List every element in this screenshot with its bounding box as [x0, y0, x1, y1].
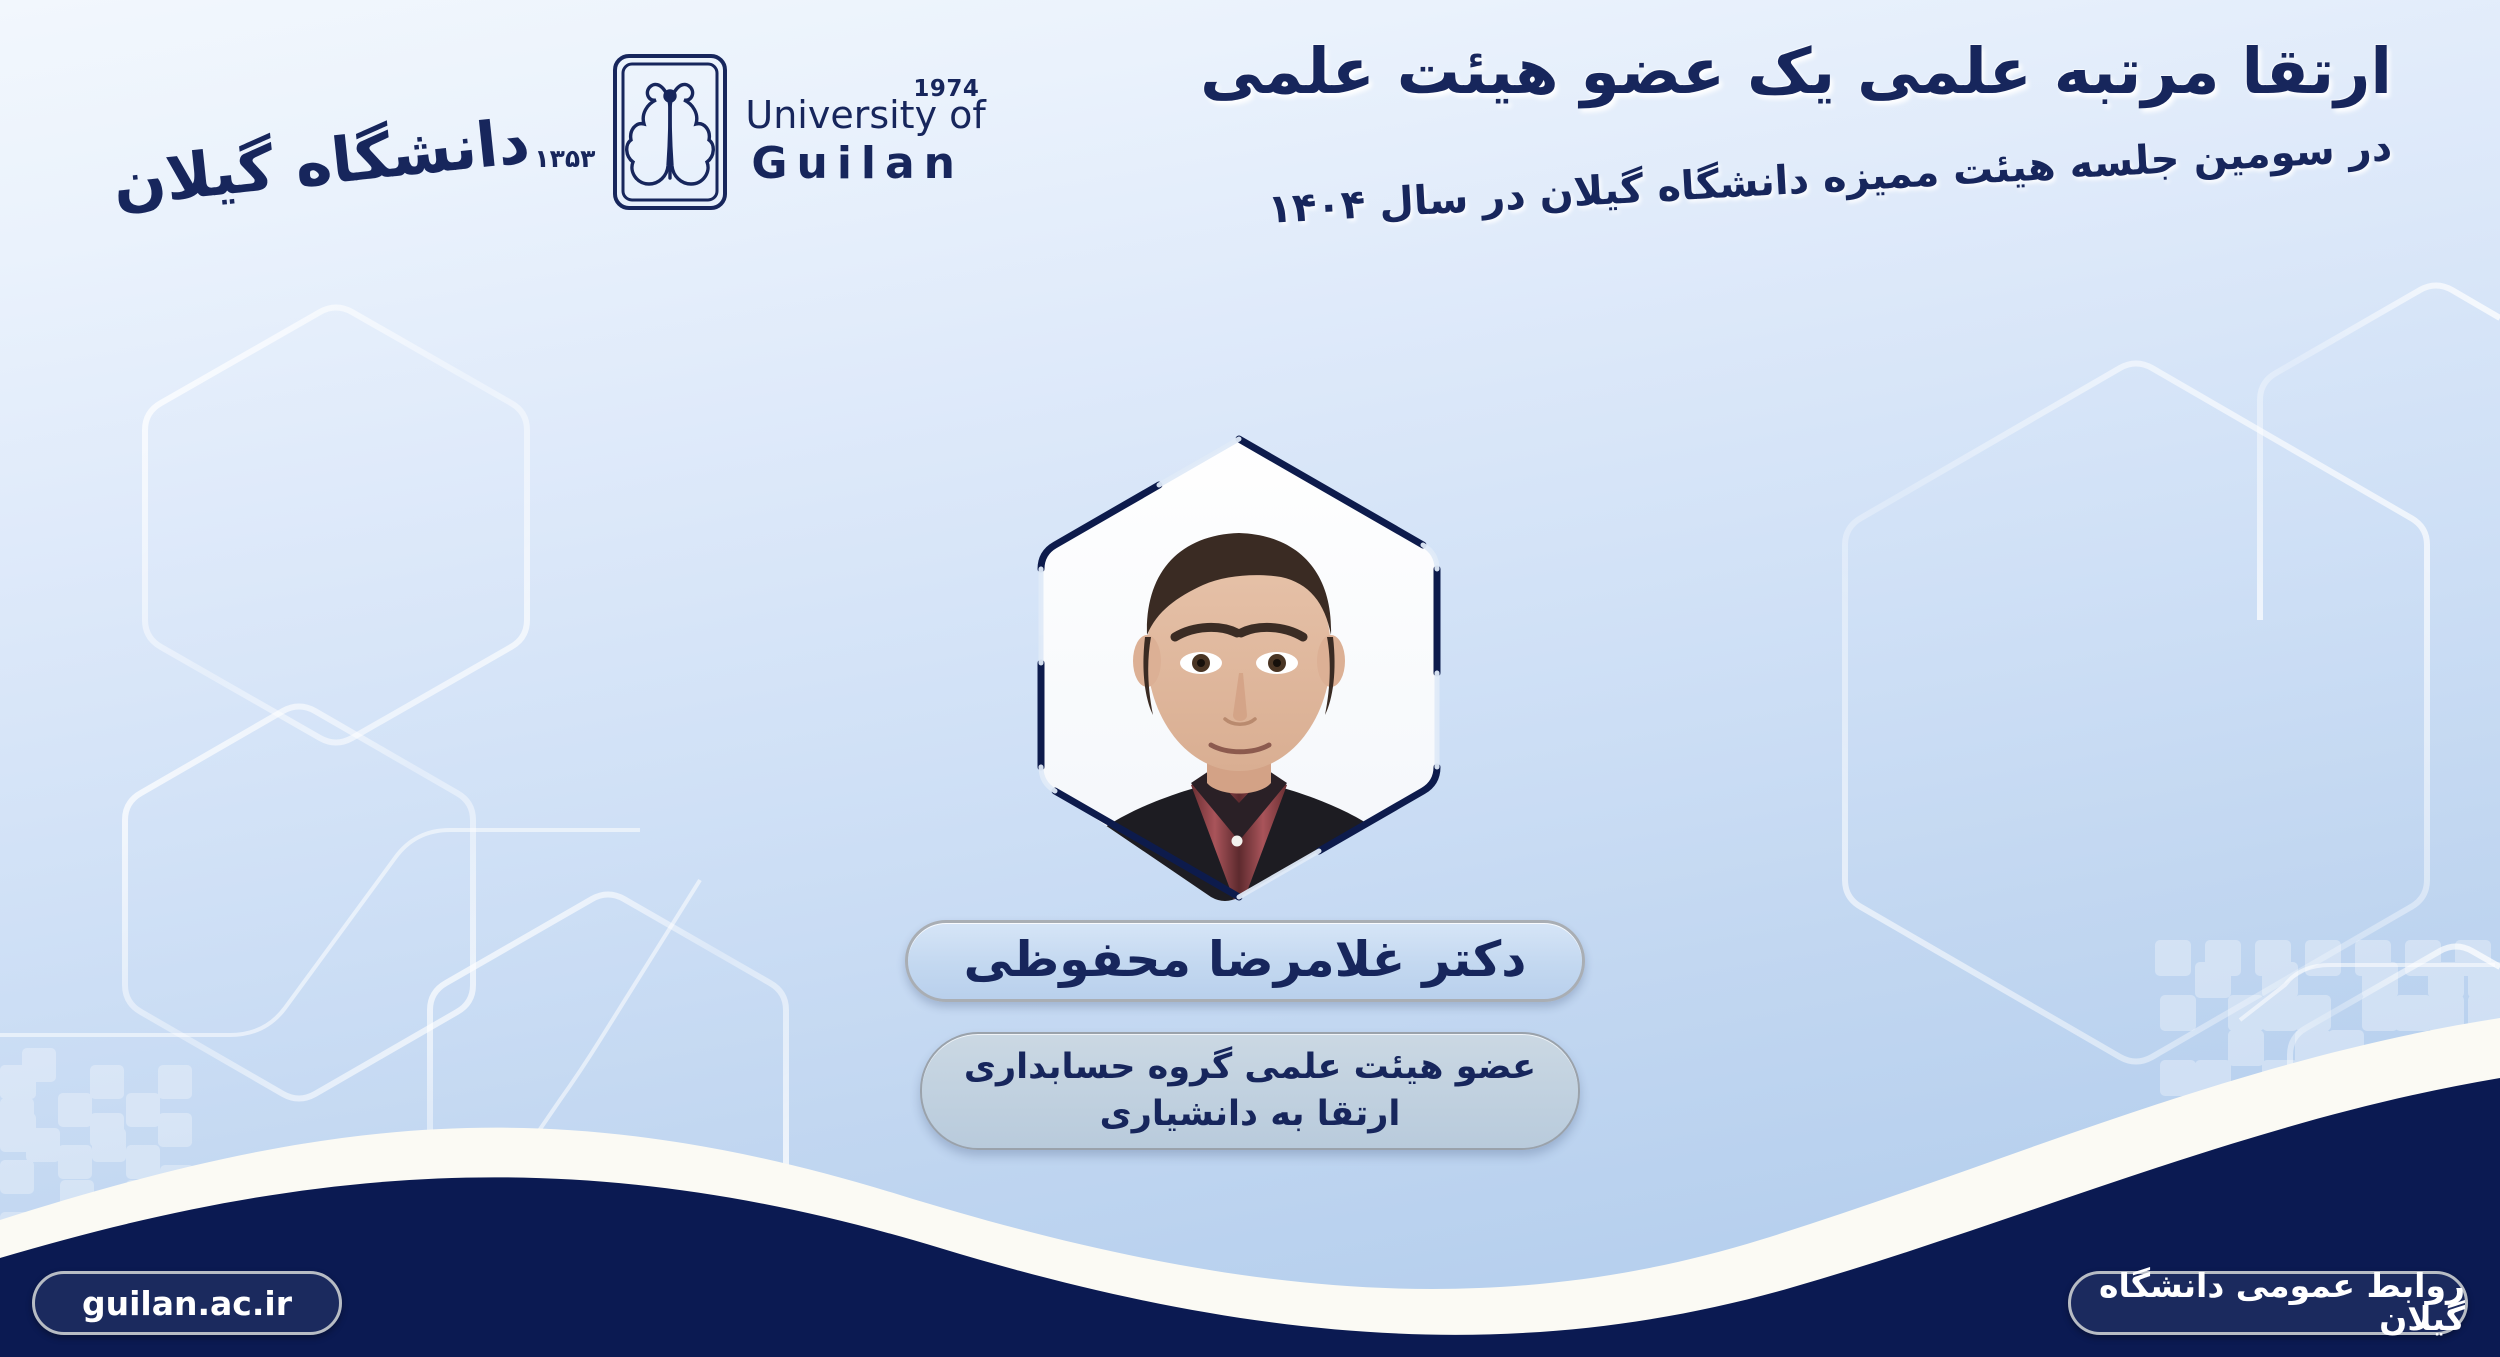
- headline-block: ارتقا مرتبه علمی یک عضو هیئت علمی در سوم…: [1200, 34, 2392, 173]
- person-name: دکتر غلامرضا محفوظی: [964, 935, 1527, 988]
- logo-english-text: 1974 University of Guilan: [745, 78, 985, 186]
- public-relations-badge: روابط عمومی دانشگاه گیلان: [2068, 1271, 2468, 1335]
- portrait-hexagon: [1019, 423, 1459, 913]
- person-department: عضو هیئت علمی گروه حسابداری: [964, 1046, 1536, 1089]
- portrait-frame: [1019, 423, 1459, 913]
- person-details-badge: عضو هیئت علمی گروه حسابداری ارتقا به دان…: [920, 1032, 1580, 1150]
- guilan-emblem-icon: [611, 52, 729, 212]
- person-name-badge: دکتر غلامرضا محفوظی: [905, 920, 1585, 1002]
- public-relations-label: روابط عمومی دانشگاه گیلان: [2071, 1269, 2465, 1338]
- hexagon-outline-group-left: [0, 308, 786, 1181]
- website-url: guilan.ac.ir: [82, 1284, 292, 1323]
- logo-persian-block: ۱۳۵۳ دانشگاه گیلان: [110, 92, 595, 173]
- logo-year-persian: ۱۳۵۳: [534, 92, 595, 173]
- page-title: ارتقا مرتبه علمی یک عضو هیئت علمی: [1200, 34, 2392, 111]
- poster-header: 1974 University of Guilan ۱۳۵۳ دانشگاه گ…: [0, 0, 2500, 270]
- person-promotion: ارتقا به دانشیاری: [1100, 1093, 1401, 1136]
- university-logo: 1974 University of Guilan ۱۳۵۳ دانشگاه گ…: [110, 52, 986, 212]
- portrait-photo: [1019, 423, 1459, 913]
- logo-year-gregorian: 1974: [913, 78, 979, 101]
- square-grid-right: [2155, 940, 2500, 1096]
- poster-canvas: 1974 University of Guilan ۱۳۵۳ دانشگاه گ…: [0, 0, 2500, 1357]
- square-grid-left: [0, 1048, 194, 1246]
- logo-guilan: Guilan: [745, 142, 964, 186]
- logo-persian-name: دانشگاه گیلان: [108, 92, 532, 215]
- website-badge[interactable]: guilan.ac.ir: [32, 1271, 342, 1335]
- page-subtitle: در سومین جلسه هیئت ممیزه دانشگاه گیلان د…: [1200, 121, 2393, 239]
